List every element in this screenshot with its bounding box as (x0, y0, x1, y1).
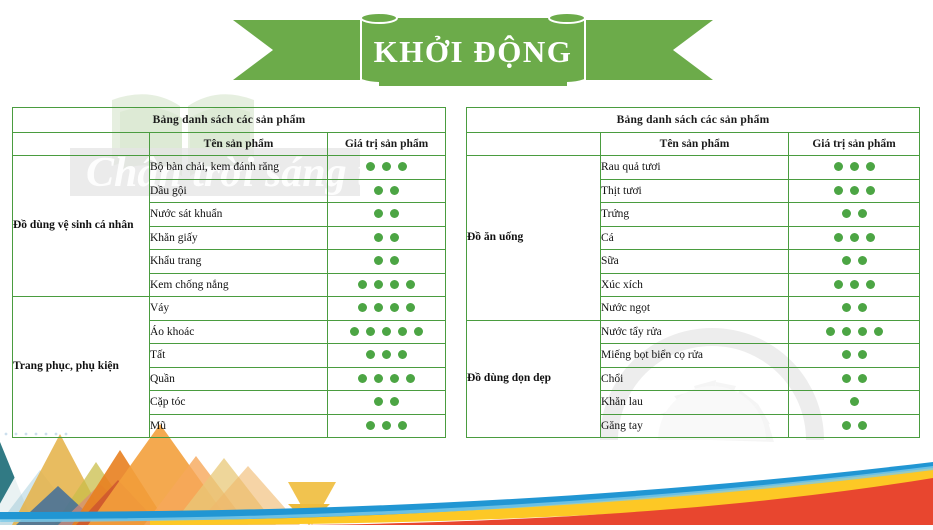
value-cell (789, 203, 920, 227)
table-header-row: Tên sản phẩmGiá trị sản phẩm (467, 133, 920, 156)
value-dot-icon (374, 280, 383, 289)
value-cell (789, 320, 920, 344)
value-dot-icon (382, 350, 391, 359)
value-dot-icon (850, 233, 859, 242)
value-dot-icon (374, 397, 383, 406)
product-name-cell: Chổi (601, 367, 789, 391)
value-dot-icon (390, 280, 399, 289)
category-column-header (467, 133, 601, 156)
value-cell (789, 344, 920, 368)
product-table-left: Bảng danh sách các sản phẩmTên sản phẩmG… (12, 107, 445, 438)
product-name-cell: Mũ (150, 414, 328, 438)
value-dots (834, 280, 875, 289)
value-dot-icon (858, 327, 867, 336)
value-cell (328, 414, 446, 438)
value-dots (366, 350, 407, 359)
value-cell (328, 156, 446, 180)
value-dot-icon (398, 162, 407, 171)
value-dot-icon (842, 256, 851, 265)
value-dot-icon (382, 327, 391, 336)
value-dot-icon (390, 303, 399, 312)
product-name-cell: Kem chống nắng (150, 273, 328, 297)
product-name-cell: Nước ngọt (601, 297, 789, 321)
value-dot-icon (366, 162, 375, 171)
value-dot-icon (850, 397, 859, 406)
value-dot-icon (834, 186, 843, 195)
product-name-cell: Khăn lau (601, 391, 789, 415)
product-name-cell: Khẩu trang (150, 250, 328, 274)
product-name-cell: Trứng (601, 203, 789, 227)
value-cell (789, 414, 920, 438)
product-name-cell: Sữa (601, 250, 789, 274)
value-dot-icon (366, 350, 375, 359)
value-dot-icon (842, 350, 851, 359)
value-dots (842, 209, 867, 218)
column-header-name: Tên sản phẩm (601, 133, 789, 156)
value-dot-icon (858, 256, 867, 265)
value-dot-icon (398, 421, 407, 430)
value-dot-icon (842, 421, 851, 430)
value-dot-icon (866, 233, 875, 242)
product-name-cell: Thịt tươi (601, 179, 789, 203)
value-dot-icon (382, 421, 391, 430)
value-cell (328, 344, 446, 368)
value-dots (834, 162, 875, 171)
product-name-cell: Cá (601, 226, 789, 250)
product-name-cell: Nước tẩy rửa (601, 320, 789, 344)
value-cell (789, 156, 920, 180)
category-column-header (13, 133, 150, 156)
value-dot-icon (374, 256, 383, 265)
value-dots (366, 162, 407, 171)
value-cell (328, 226, 446, 250)
value-dot-icon (390, 397, 399, 406)
value-dot-icon (826, 327, 835, 336)
value-cell (789, 226, 920, 250)
value-dot-icon (374, 209, 383, 218)
value-dot-icon (842, 327, 851, 336)
value-cell (789, 250, 920, 274)
value-dot-icon (834, 280, 843, 289)
value-dot-icon (366, 327, 375, 336)
value-dot-icon (842, 209, 851, 218)
value-cell (789, 297, 920, 321)
value-dot-icon (842, 303, 851, 312)
value-cell (328, 273, 446, 297)
value-dots (842, 374, 867, 383)
value-dots (826, 327, 883, 336)
value-dot-icon (858, 209, 867, 218)
ribbon-shape-icon (233, 8, 713, 94)
value-dot-icon (358, 303, 367, 312)
product-name-cell: Xúc xích (601, 273, 789, 297)
value-dot-icon (358, 374, 367, 383)
value-dot-icon (366, 421, 375, 430)
banner: KHỞI ĐỘNG (233, 8, 713, 94)
value-dots (842, 303, 867, 312)
value-dot-icon (850, 162, 859, 171)
value-cell (328, 391, 446, 415)
value-dot-icon (390, 209, 399, 218)
value-dot-icon (406, 374, 415, 383)
product-name-cell: Nước sát khuẩn (150, 203, 328, 227)
value-dot-icon (834, 233, 843, 242)
value-dots (842, 256, 867, 265)
value-dot-icon (374, 374, 383, 383)
value-dot-icon (398, 350, 407, 359)
table-header-row: Tên sản phẩmGiá trị sản phẩm (13, 133, 446, 156)
value-dots (834, 186, 875, 195)
value-dot-icon (858, 350, 867, 359)
product-name-cell: Cặp tóc (150, 391, 328, 415)
value-dot-icon (842, 374, 851, 383)
value-dot-icon (374, 186, 383, 195)
value-dots (834, 233, 875, 242)
value-cell (789, 179, 920, 203)
value-dots (842, 350, 867, 359)
product-name-cell: Váy (150, 297, 328, 321)
table-right: Bảng danh sách các sản phẩmTên sản phẩmG… (466, 107, 920, 438)
product-name-cell: Rau quả tươi (601, 156, 789, 180)
value-dots (366, 421, 407, 430)
value-dot-icon (866, 162, 875, 171)
column-header-value: Giá trị sản phẩm (328, 133, 446, 156)
column-header-value: Giá trị sản phẩm (789, 133, 920, 156)
value-dots (374, 186, 399, 195)
category-cell: Đồ dùng dọn dẹp (467, 320, 601, 438)
value-dots (350, 327, 423, 336)
table-left: Bảng danh sách các sản phẩmTên sản phẩmG… (12, 107, 446, 438)
product-name-cell: Áo khoác (150, 320, 328, 344)
value-dots (374, 233, 399, 242)
value-dot-icon (858, 303, 867, 312)
category-cell: Trang phục, phụ kiện (13, 297, 150, 438)
value-dot-icon (858, 374, 867, 383)
value-dots (842, 421, 867, 430)
value-dots (374, 397, 399, 406)
value-dots (358, 303, 415, 312)
value-dot-icon (406, 280, 415, 289)
table-title: Bảng danh sách các sản phẩm (13, 108, 446, 133)
value-dot-icon (858, 421, 867, 430)
value-cell (328, 320, 446, 344)
product-name-cell: Miếng bọt biển cọ rửa (601, 344, 789, 368)
table-row: Trang phục, phụ kiệnVáy (13, 297, 446, 321)
product-name-cell: Tất (150, 344, 328, 368)
table-title-row: Bảng danh sách các sản phẩm (13, 108, 446, 133)
product-table-right: Bảng danh sách các sản phẩmTên sản phẩmG… (466, 107, 919, 438)
value-dot-icon (850, 280, 859, 289)
value-dot-icon (374, 233, 383, 242)
product-name-cell: Găng tay (601, 414, 789, 438)
value-dot-icon (390, 186, 399, 195)
category-cell: Đồ dùng vệ sinh cá nhân (13, 156, 150, 297)
value-dot-icon (834, 162, 843, 171)
value-dot-icon (390, 374, 399, 383)
value-dot-icon (398, 327, 407, 336)
value-dot-icon (406, 303, 415, 312)
value-cell (328, 297, 446, 321)
value-dot-icon (390, 256, 399, 265)
triangle-mosaic-icon (0, 424, 336, 525)
table-row: Đồ dùng vệ sinh cá nhânBộ bàn chải, kem … (13, 156, 446, 180)
table-title: Bảng danh sách các sản phẩm (467, 108, 920, 133)
value-dots (374, 209, 399, 218)
value-dot-icon (850, 186, 859, 195)
value-dots (374, 256, 399, 265)
product-name-cell: Dầu gội (150, 179, 328, 203)
value-dot-icon (350, 327, 359, 336)
value-cell (789, 391, 920, 415)
value-cell (789, 273, 920, 297)
value-cell (328, 203, 446, 227)
value-dot-icon (414, 327, 423, 336)
table-row: Đồ ăn uốngRau quả tươi (467, 156, 920, 180)
table-title-row: Bảng danh sách các sản phẩm (467, 108, 920, 133)
value-dot-icon (866, 186, 875, 195)
value-dot-icon (866, 280, 875, 289)
wave-ribbons-icon (0, 462, 933, 525)
value-cell (328, 250, 446, 274)
table-left-body: Bảng danh sách các sản phẩmTên sản phẩmG… (13, 108, 446, 438)
value-cell (328, 367, 446, 391)
value-dots (358, 280, 415, 289)
value-dot-icon (874, 327, 883, 336)
value-dot-icon (382, 162, 391, 171)
product-name-cell: Khăn giấy (150, 226, 328, 250)
value-cell (328, 179, 446, 203)
value-dots (358, 374, 415, 383)
category-cell: Đồ ăn uống (467, 156, 601, 321)
table-row: Đồ dùng dọn dẹpNước tẩy rửa (467, 320, 920, 344)
product-name-cell: Bộ bàn chải, kem đánh răng (150, 156, 328, 180)
product-name-cell: Quần (150, 367, 328, 391)
value-dot-icon (374, 303, 383, 312)
value-dots (850, 397, 859, 406)
column-header-name: Tên sản phẩm (150, 133, 328, 156)
value-dot-icon (358, 280, 367, 289)
table-right-body: Bảng danh sách các sản phẩmTên sản phẩmG… (467, 108, 920, 438)
value-cell (789, 367, 920, 391)
value-dot-icon (390, 233, 399, 242)
